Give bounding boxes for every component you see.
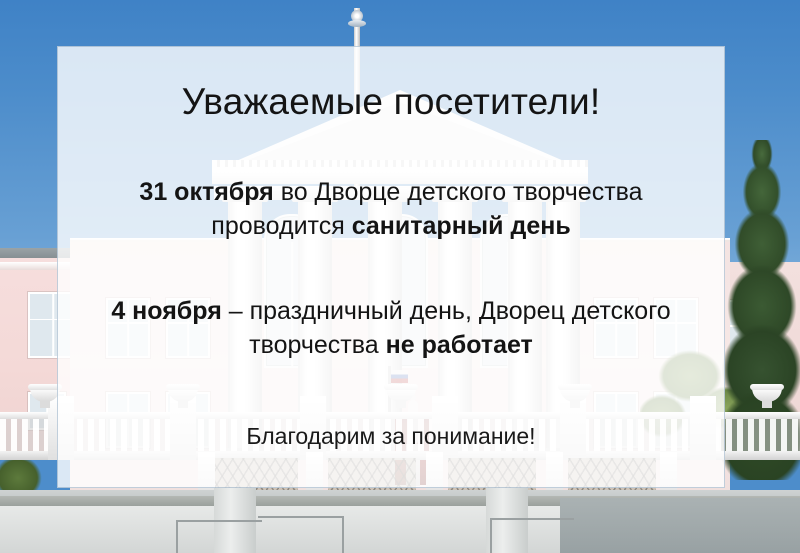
announcement-sanitary-day: 31 октября во Дворце детского творчества… bbox=[81, 175, 701, 244]
handrail-post bbox=[176, 520, 178, 553]
handrail-post bbox=[342, 516, 344, 553]
announcement-holiday: 4 ноября – праздничный день, Дворец детс… bbox=[81, 294, 701, 363]
page-title: Уважаемые посетители! bbox=[182, 82, 601, 123]
handrail bbox=[490, 518, 574, 520]
retaining-wall-right bbox=[560, 498, 800, 553]
announcement-date-october: 31 октября bbox=[139, 178, 273, 206]
announcement-date-november: 4 ноября bbox=[111, 297, 221, 325]
announcement-emphasis-closed: не работает bbox=[386, 331, 533, 359]
handrail-post bbox=[490, 518, 492, 553]
announcement-emphasis-sanitary-day: санитарный день bbox=[352, 212, 571, 240]
poster-text: Уважаемые посетители! 31 октября во Двор… bbox=[57, 46, 725, 488]
handrail bbox=[258, 516, 344, 518]
closing-message: Благодарим за понимание! bbox=[246, 423, 535, 450]
finial-ornament-icon bbox=[347, 8, 367, 28]
stone-urn bbox=[30, 382, 60, 408]
announcement-poster: Уважаемые посетители! 31 октября во Двор… bbox=[0, 0, 800, 553]
handrail bbox=[176, 520, 262, 522]
wall-pier bbox=[486, 488, 528, 553]
stone-urn bbox=[752, 382, 782, 408]
